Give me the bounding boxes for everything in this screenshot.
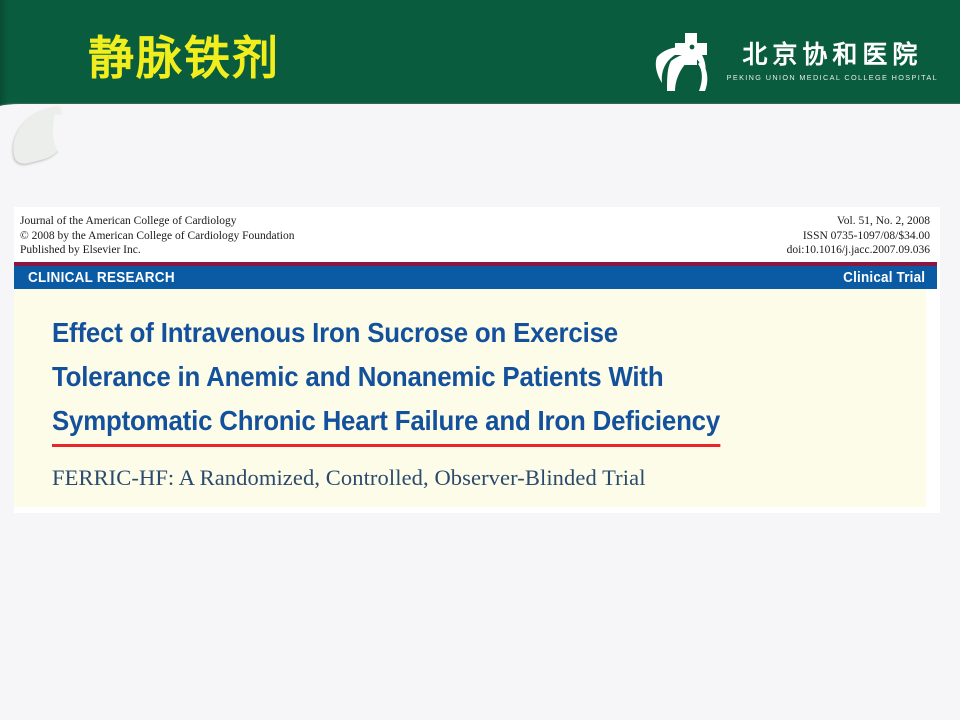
article-title-line-2: Tolerance in Anemic and Nonanemic Patien…	[52, 355, 874, 399]
journal-copyright: © 2008 by the American College of Cardio…	[20, 229, 294, 244]
journal-masthead: Journal of the American College of Cardi…	[14, 207, 940, 262]
page-title: 静脉铁剂	[88, 34, 280, 82]
article-type-label: Clinical Trial	[843, 270, 925, 286]
article-body: Effect of Intravenous Iron Sucrose on Ex…	[14, 289, 926, 507]
journal-issn: ISSN 0735-1097/08/$34.00	[787, 229, 930, 244]
article-title-line-3: Symptomatic Chronic Heart Failure and Ir…	[52, 399, 720, 447]
journal-volume: Vol. 51, No. 2, 2008	[787, 214, 930, 229]
journal-masthead-right: Vol. 51, No. 2, 2008 ISSN 0735-1097/08/$…	[787, 214, 930, 258]
article-title-line-1: Effect of Intravenous Iron Sucrose on Ex…	[52, 311, 874, 355]
journal-article-clipping: Journal of the American College of Cardi…	[14, 207, 940, 513]
hospital-logo: 北京协和医院 PEKING UNION MEDICAL COLLEGE HOSP…	[651, 28, 938, 96]
presentation-slide: 静脉铁剂 北京协和医院 PEKING UNION MEDICAL COLLEGE…	[0, 0, 960, 720]
hospital-emblem-icon	[651, 31, 717, 93]
section-label: CLINICAL RESEARCH	[28, 270, 175, 286]
article-subtitle: FERRIC-HF: A Randomized, Controlled, Obs…	[52, 465, 926, 491]
header-curve-decoration	[0, 104, 960, 164]
hospital-logo-text: 北京协和医院 PEKING UNION MEDICAL COLLEGE HOSP…	[727, 42, 938, 82]
hospital-name-en: PEKING UNION MEDICAL COLLEGE HOSPITAL	[727, 73, 938, 82]
journal-doi: doi:10.1016/j.jacc.2007.09.036	[787, 243, 930, 258]
slide-header-band: 静脉铁剂 北京协和医院 PEKING UNION MEDICAL COLLEGE…	[0, 0, 960, 119]
journal-masthead-left: Journal of the American College of Cardi…	[20, 214, 294, 258]
article-title: Effect of Intravenous Iron Sucrose on Ex…	[52, 311, 874, 447]
journal-name: Journal of the American College of Cardi…	[20, 214, 294, 229]
journal-publisher: Published by Elsevier Inc.	[20, 243, 294, 258]
hospital-name-cn: 北京协和医院	[742, 42, 922, 67]
journal-section-banner: CLINICAL RESEARCH Clinical Trial	[14, 262, 937, 289]
